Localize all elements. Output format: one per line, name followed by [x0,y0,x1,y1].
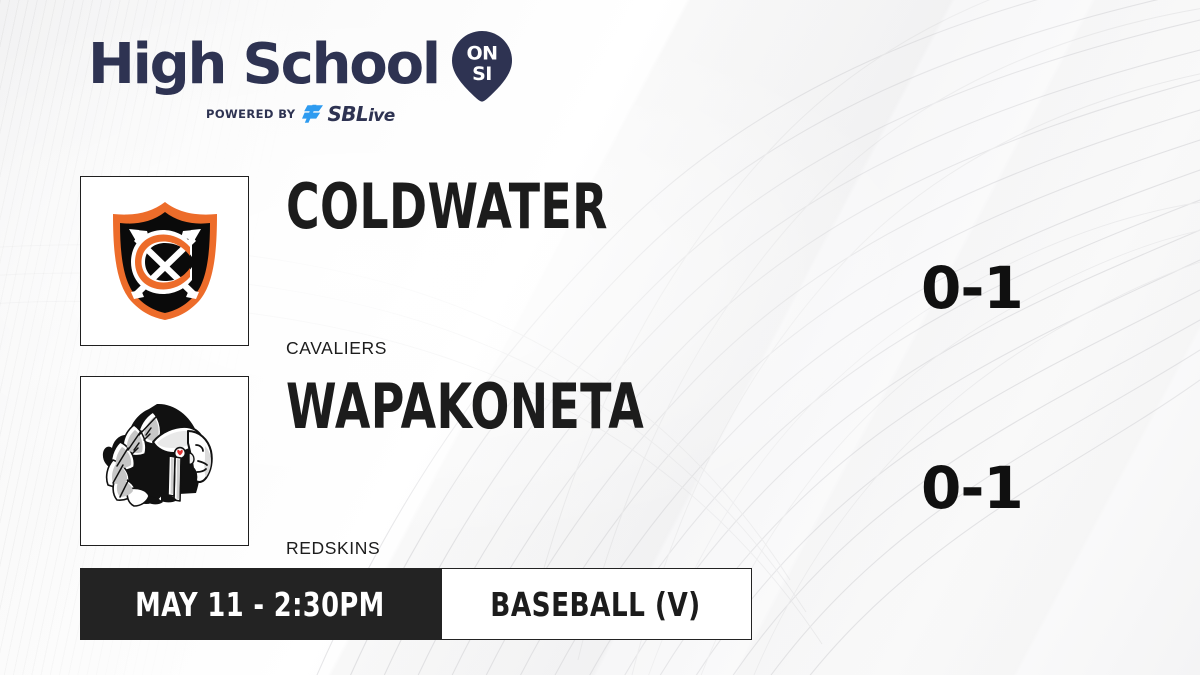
team-logo-box [80,176,249,346]
on-si-pin-line-1: ON [466,43,497,65]
powered-by-label: POWERED BY [206,107,295,121]
game-sport-badge: BASEBALL (V) [442,568,752,640]
sblive-wordmark-lower: ive [368,106,395,126]
sblive-wordmark: SBLive [327,102,394,126]
game-datetime-text: MAY 11 - 2:30PM [135,585,384,624]
matchup-graphic: High School ON SI POWERED BY SBLive [0,0,1200,675]
team-name: COLDWATER [286,176,608,238]
game-sport-text: BASEBALL (V) [490,585,700,624]
sblive-bolt-icon [302,104,324,124]
sblive-logo: SBLive [302,102,394,126]
wapakoneta-redskins-headdress-icon [101,401,229,521]
on-si-pin-icon: ON SI [451,30,513,102]
team-mascot: REDSKINS [286,538,380,559]
team-name: WAPAKONETA [286,376,644,438]
sblive-wordmark-upper: SBL [327,102,368,126]
team-logo-box [80,376,249,546]
powered-by-row: POWERED BY SBLive [206,102,508,126]
game-info-bar: MAY 11 - 2:30PM BASEBALL (V) [80,568,752,640]
coldwater-cavaliers-shield-icon [106,200,224,322]
brand-header: High School ON SI POWERED BY SBLive [88,34,508,126]
team-record: 0-1 [921,459,1023,517]
on-si-pin-line-2: SI [472,63,492,85]
team-record: 0-1 [921,259,1023,317]
game-datetime-badge: MAY 11 - 2:30PM [80,568,442,640]
brand-title: High School [88,37,439,93]
team-mascot: CAVALIERS [286,338,387,359]
brand-row: High School ON SI [88,34,508,96]
